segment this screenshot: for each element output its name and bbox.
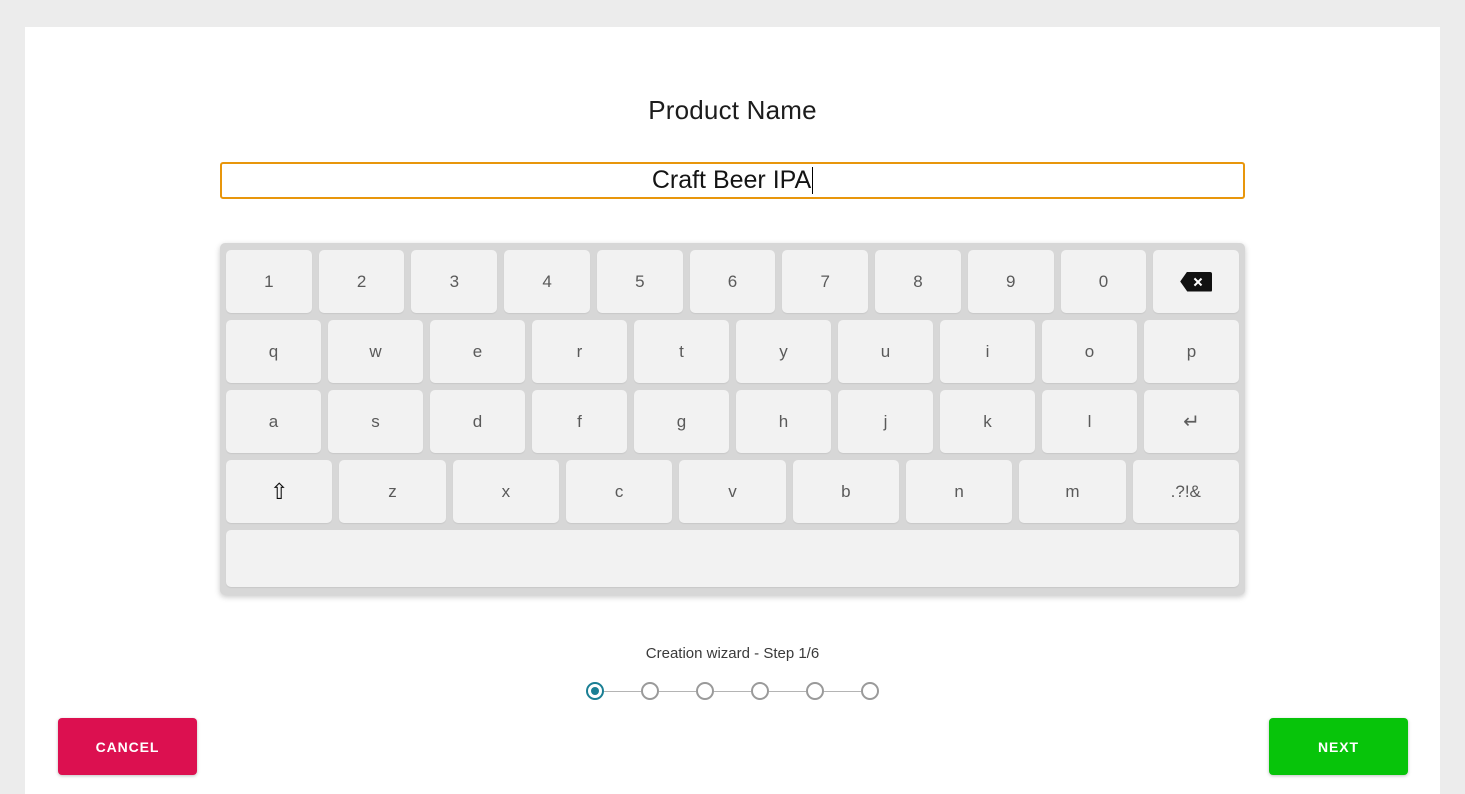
- key-label: l: [1088, 412, 1092, 432]
- step-connector: [714, 691, 751, 692]
- key-label: e: [473, 342, 482, 362]
- key-w[interactable]: w: [328, 320, 423, 383]
- key-label: g: [677, 412, 686, 432]
- key-label: 7: [821, 272, 830, 292]
- key-m[interactable]: m: [1019, 460, 1125, 523]
- key-label: m: [1065, 482, 1079, 502]
- number-row: 1234567890: [226, 250, 1239, 313]
- wizard-step-label: Creation wizard - Step 1/6: [25, 645, 1440, 662]
- key-7[interactable]: 7: [782, 250, 868, 313]
- bottom-letter-row: ⇧zxcvbnm.?!&: [226, 460, 1239, 523]
- next-button[interactable]: NEXT: [1269, 718, 1408, 775]
- step-dot-5[interactable]: [806, 682, 824, 700]
- cancel-button[interactable]: CANCEL: [58, 718, 197, 775]
- step-connector: [824, 691, 861, 692]
- key-label: p: [1187, 342, 1196, 362]
- key-5[interactable]: 5: [597, 250, 683, 313]
- key-3[interactable]: 3: [411, 250, 497, 313]
- key-t[interactable]: t: [634, 320, 729, 383]
- key-label: w: [369, 342, 381, 362]
- key-label: j: [884, 412, 888, 432]
- key-g[interactable]: g: [634, 390, 729, 453]
- key-r[interactable]: r: [532, 320, 627, 383]
- backspace-icon: [1180, 272, 1212, 292]
- key-q[interactable]: q: [226, 320, 321, 383]
- spacebar-key[interactable]: [226, 530, 1239, 587]
- wizard-stepper: [25, 682, 1440, 700]
- key-label: 8: [913, 272, 922, 292]
- key-4[interactable]: 4: [504, 250, 590, 313]
- key-y[interactable]: y: [736, 320, 831, 383]
- step-connector: [659, 691, 696, 692]
- key-label: a: [269, 412, 278, 432]
- symbols-key[interactable]: .?!&: [1133, 460, 1239, 523]
- enter-icon: ↵: [1183, 412, 1200, 432]
- input-inner: Craft Beer IPA: [652, 164, 813, 197]
- product-name-input[interactable]: Craft Beer IPA: [220, 162, 1245, 199]
- key-label: 5: [635, 272, 644, 292]
- key-label: n: [954, 482, 963, 502]
- step-dot-4[interactable]: [751, 682, 769, 700]
- text-caret: [812, 167, 813, 194]
- key-d[interactable]: d: [430, 390, 525, 453]
- key-label: q: [269, 342, 278, 362]
- key-a[interactable]: a: [226, 390, 321, 453]
- key-0[interactable]: 0: [1061, 250, 1147, 313]
- key-label: y: [779, 342, 788, 362]
- key-v[interactable]: v: [679, 460, 785, 523]
- key-9[interactable]: 9: [968, 250, 1054, 313]
- qwerty-row: qwertyuiop: [226, 320, 1239, 383]
- key-label: v: [728, 482, 737, 502]
- app-card: Product Name Craft Beer IPA 1234567890qw…: [25, 27, 1440, 794]
- key-f[interactable]: f: [532, 390, 627, 453]
- shift-icon: ⇧: [270, 481, 288, 503]
- key-c[interactable]: c: [566, 460, 672, 523]
- backspace-key[interactable]: [1153, 250, 1239, 313]
- key-label: z: [388, 482, 397, 502]
- key-s[interactable]: s: [328, 390, 423, 453]
- step-dot-2[interactable]: [641, 682, 659, 700]
- shift-key[interactable]: ⇧: [226, 460, 332, 523]
- key-label: 2: [357, 272, 366, 292]
- step-connector: [769, 691, 806, 692]
- key-label: r: [577, 342, 583, 362]
- space-row: [226, 530, 1239, 587]
- key-label: .?!&: [1171, 482, 1201, 502]
- key-label: 6: [728, 272, 737, 292]
- key-label: 0: [1099, 272, 1108, 292]
- key-h[interactable]: h: [736, 390, 831, 453]
- key-label: u: [881, 342, 890, 362]
- key-k[interactable]: k: [940, 390, 1035, 453]
- key-label: t: [679, 342, 684, 362]
- key-label: s: [371, 412, 380, 432]
- key-l[interactable]: l: [1042, 390, 1137, 453]
- key-label: i: [986, 342, 990, 362]
- key-j[interactable]: j: [838, 390, 933, 453]
- key-label: 4: [542, 272, 551, 292]
- step-dot-1[interactable]: [586, 682, 604, 700]
- key-label: h: [779, 412, 788, 432]
- key-label: b: [841, 482, 850, 502]
- step-dot-6[interactable]: [861, 682, 879, 700]
- key-2[interactable]: 2: [319, 250, 405, 313]
- key-label: c: [615, 482, 624, 502]
- key-n[interactable]: n: [906, 460, 1012, 523]
- key-i[interactable]: i: [940, 320, 1035, 383]
- key-1[interactable]: 1: [226, 250, 312, 313]
- key-label: k: [983, 412, 992, 432]
- key-label: f: [577, 412, 582, 432]
- key-o[interactable]: o: [1042, 320, 1137, 383]
- key-6[interactable]: 6: [690, 250, 776, 313]
- key-u[interactable]: u: [838, 320, 933, 383]
- input-value: Craft Beer IPA: [652, 168, 811, 193]
- key-x[interactable]: x: [453, 460, 559, 523]
- key-8[interactable]: 8: [875, 250, 961, 313]
- key-label: o: [1085, 342, 1094, 362]
- key-e[interactable]: e: [430, 320, 525, 383]
- key-z[interactable]: z: [339, 460, 445, 523]
- key-label: 1: [264, 272, 273, 292]
- key-p[interactable]: p: [1144, 320, 1239, 383]
- step-dot-3[interactable]: [696, 682, 714, 700]
- virtual-keyboard: 1234567890qwertyuiopasdfghjkl↵⇧zxcvbnm.?…: [220, 243, 1245, 595]
- key-label: x: [502, 482, 511, 502]
- key-label: 3: [450, 272, 459, 292]
- key-label: d: [473, 412, 482, 432]
- key-b[interactable]: b: [793, 460, 899, 523]
- home-row: asdfghjkl↵: [226, 390, 1239, 453]
- step-connector: [604, 691, 641, 692]
- key-label: 9: [1006, 272, 1015, 292]
- page-title: Product Name: [25, 95, 1440, 126]
- enter-key[interactable]: ↵: [1144, 390, 1239, 453]
